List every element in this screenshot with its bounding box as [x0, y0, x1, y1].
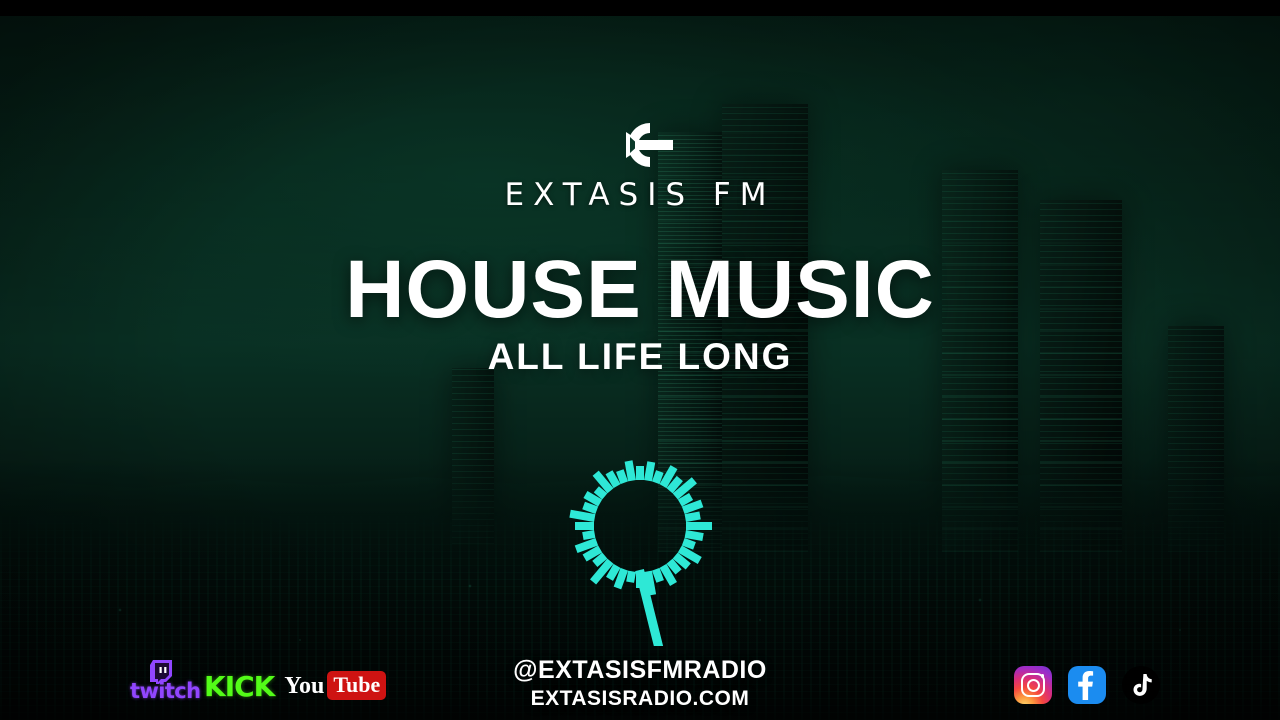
radial-audio-visualizer-icon — [545, 436, 735, 646]
headline-block: HOUSE MUSIC ALL LIFE LONG — [0, 250, 1280, 375]
brand-wordmark: EXTASIS FM — [0, 180, 1280, 211]
instagram-lens-icon — [1027, 679, 1040, 692]
extasis-ce-monogram-icon — [604, 120, 676, 170]
overlay-content: EXTASIS FM HOUSE MUSIC ALL LIFE LONG — [0, 16, 1280, 720]
visualizer-bar — [686, 522, 712, 530]
brand-block: EXTASIS FM — [0, 120, 1280, 211]
visualizer-bar — [636, 466, 644, 480]
social-links-right — [1014, 666, 1160, 704]
footer-bar: twitch KICK You Tube @EXTASISFMRADIO EXT… — [0, 636, 1280, 720]
social-link-facebook[interactable] — [1068, 666, 1106, 704]
audio-visualizer — [0, 436, 1280, 646]
page-subtitle: ALL LIFE LONG — [0, 338, 1280, 375]
visualizer-bar — [582, 530, 595, 540]
visualizer-bar — [575, 522, 594, 530]
letterbox-bar-top — [0, 0, 1280, 16]
facebook-icon — [1068, 666, 1106, 704]
social-link-instagram[interactable] — [1014, 666, 1052, 704]
social-link-tiktok[interactable] — [1122, 666, 1160, 704]
instagram-dot-icon — [1041, 674, 1045, 678]
video-player-stage: EXTASIS FM HOUSE MUSIC ALL LIFE LONG — [0, 0, 1280, 720]
page-title: HOUSE MUSIC — [0, 250, 1280, 330]
visualizer-bar — [626, 571, 636, 583]
tiktok-icon — [1122, 666, 1160, 704]
